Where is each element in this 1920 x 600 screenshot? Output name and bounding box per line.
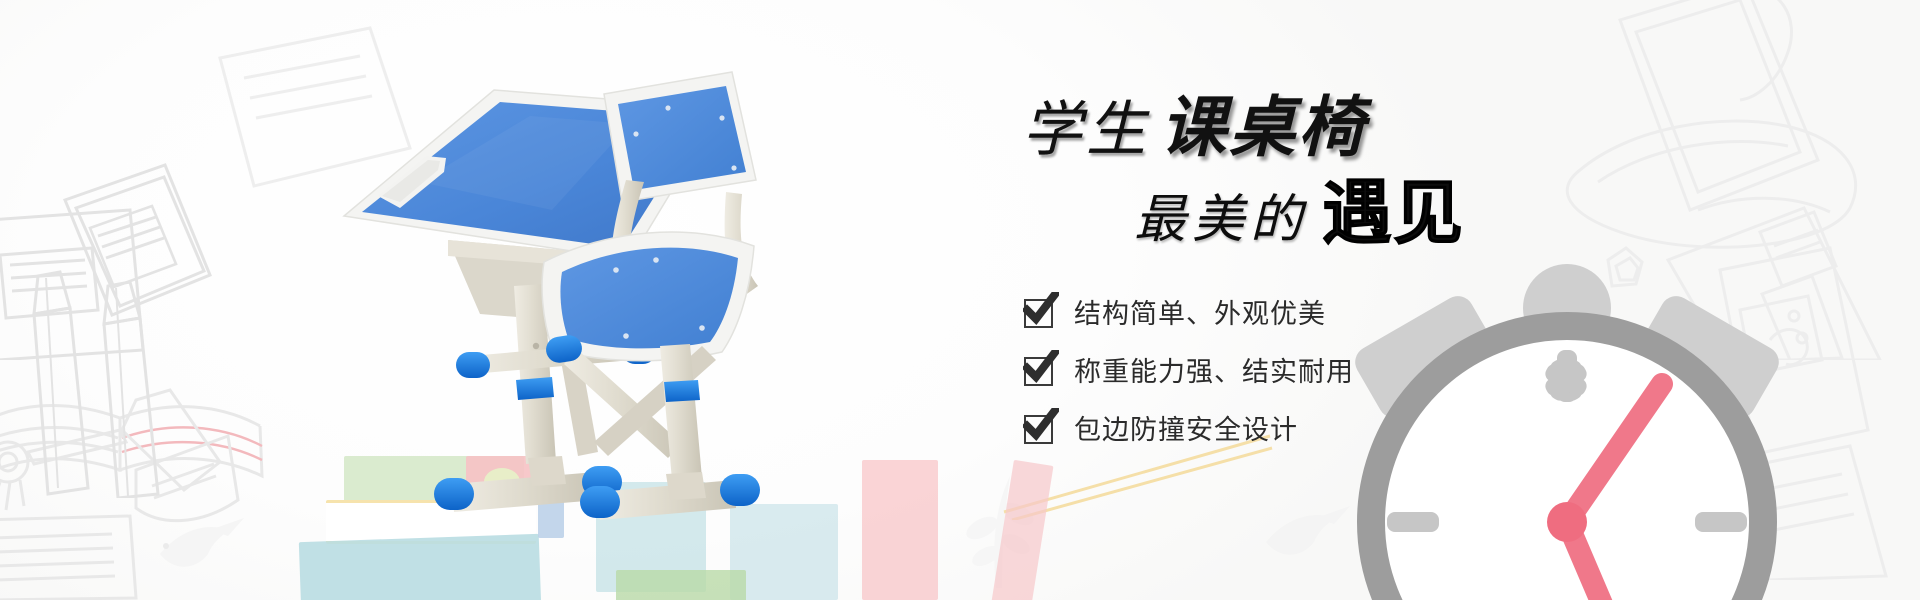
headline-line-2: 最美的遇见 xyxy=(1012,178,1532,248)
product-photo-desk-chair xyxy=(330,60,960,540)
headline-line1-emphasis: 课桌椅 xyxy=(1160,92,1367,165)
feature-item: 包边防撞安全设计 xyxy=(1024,408,1532,447)
pencil-doodle xyxy=(8,268,188,498)
notebook-doodle-topleft xyxy=(0,60,310,360)
checkbox-check-icon xyxy=(1024,297,1054,327)
feature-label: 称重能力强、结实耐用 xyxy=(1074,350,1354,389)
headline-line2-prefix: 最美的 xyxy=(1134,192,1308,249)
checkbox-check-icon xyxy=(1024,355,1054,385)
headline-line1-prefix: 学生 xyxy=(1022,97,1150,163)
book-block-teal-large xyxy=(299,534,541,600)
book-block-pink-tilt xyxy=(991,460,1054,600)
feature-label: 包边防撞安全设计 xyxy=(1074,408,1298,447)
checkbox-check-icon xyxy=(1024,413,1054,443)
feature-item: 结构简单、外观优美 xyxy=(1024,292,1532,331)
feature-list: 结构简单、外观优美 称重能力强、结实耐用 包边防撞安 xyxy=(1012,292,1532,447)
leaf-doodle xyxy=(952,470,1042,590)
copy-block: 学生课桌椅 最美的遇见 结构简单、外观优美 xyxy=(1012,96,1532,466)
feature-item: 称重能力强、结实耐用 xyxy=(1024,350,1532,389)
promo-banner: 学生课桌椅 最美的遇见 结构简单、外观优美 xyxy=(0,0,1920,600)
feature-label: 结构简单、外观优美 xyxy=(1074,292,1326,331)
headline-line-1: 学生课桌椅 xyxy=(1012,96,1532,162)
dove-doodle-left xyxy=(150,500,260,580)
headline-line2-emphasis: 遇见 xyxy=(1322,174,1464,252)
book-block-green-dark xyxy=(616,570,746,600)
